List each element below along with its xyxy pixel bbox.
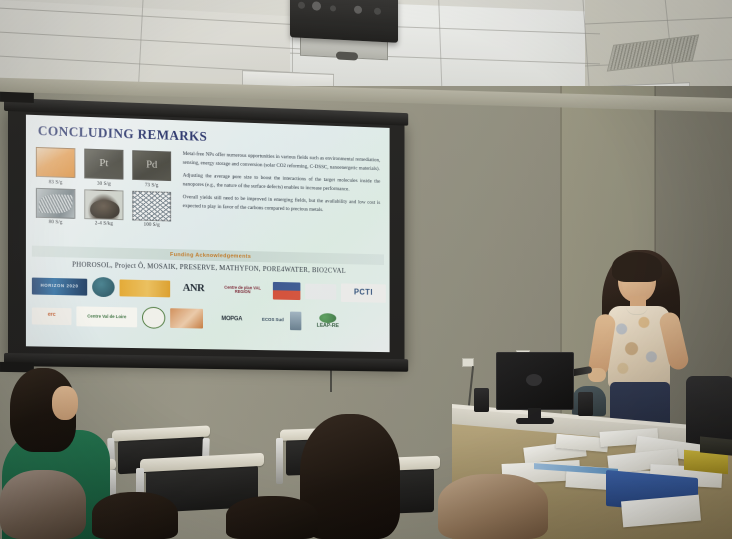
material-cell: 83 S/g [36,147,76,186]
presenter-hair-front [612,252,662,282]
ring-seal-logo-icon [142,307,165,329]
material-label: 2-4 S/kg [84,220,123,227]
leap-re-logo-icon: LEAP-RE [306,310,349,332]
ecos-sud-logo-icon: ECOS Sud [261,311,286,329]
monitor-brand-logo-icon [526,374,542,386]
material-label: 80 S/g [36,219,76,226]
audience-member-4 [438,474,548,539]
mopga-logo-icon: MOPGA [208,311,256,328]
audience-member-1-neck [52,386,78,420]
projector-port [374,8,381,15]
pcti-asturias-logo-icon: PCTI [341,283,386,302]
monitor-stand-base [516,418,554,424]
speaker-right-icon [578,392,593,416]
centre-val-de-loire-region-logo-icon: Centre de plan VAL REGION [217,281,269,300]
slide-body-text: Metal-free NPs offer numerous opportunit… [183,150,381,221]
material-cell: 80 S/g [36,187,76,225]
blue-circle-logo-icon [92,277,115,297]
palladium-tile-icon [132,150,171,181]
leap-re-label: LEAP-RE [317,323,339,329]
material-label: 30 S/g [84,180,123,187]
leap-re-glyph-icon [319,313,336,323]
ceiling-projector-icon [290,0,398,43]
material-label: 73 S/g [132,181,171,188]
line-mark-logo-icon [305,284,336,300]
slide-paragraph-2: Adjusting the average pore size to boost… [183,172,381,195]
logo-row-2: erc Centre Val de Loire MOPGA ECOS Sud L… [32,302,386,334]
presentation-slide: CONCLUDING REMARKS 83 S/g 30 S/g 73 S/g [26,115,390,353]
horizon-2020-logo-icon: HORIZON 2020 [32,277,87,295]
funding-header-text: Funding Acknowledgements [170,252,251,260]
funder-logos: HORIZON 2020 ANR Centre de plan VAL REGI… [32,273,386,339]
erc-logo-icon: erc [32,307,72,325]
conference-room-scene: CONCLUDING REMARKS 83 S/g 30 S/g 73 S/g [0,0,732,539]
projector-port [330,5,336,11]
projector-port [298,2,305,9]
gold-banner-logo-icon [119,279,170,297]
desktop-monitor-icon [496,352,574,410]
logo-row-1: HORIZON 2020 ANR Centre de plan VAL REGI… [32,273,386,306]
screen-bracket [0,92,34,103]
material-cell: 73 S/g [132,150,171,188]
platinum-tile-icon [84,149,123,180]
anr-logo-icon: ANR [175,280,212,298]
fiber-bundle-icon [36,187,76,218]
slide-paragraph-3: Overall yields still need to be improved… [183,194,381,217]
carbon-powder-icon [84,189,123,220]
chair-frame [276,438,283,484]
slide-paragraph-1: Metal-free NPs offer numerous opportunit… [183,150,381,173]
materials-row: 83 S/g 30 S/g 73 S/g [36,147,173,189]
material-cell: 30 S/g [84,149,123,187]
photo-thumb-logo-icon [170,308,203,328]
projector-lens-icon [336,51,358,60]
flag-logo-icon [290,311,301,330]
material-cell: 100 S/g [132,190,171,228]
centre-val-de-loire-logo-icon: Centre Val de Loire [76,306,137,327]
chile-flag-logo-icon [273,282,300,300]
projector-port [312,1,321,10]
projection-screen: CONCLUDING REMARKS 83 S/g 30 S/g 73 S/g [8,104,404,364]
material-label: 83 S/g [36,178,76,185]
materials-row: 80 S/g 2-4 S/kg 100 S/g [36,187,173,228]
dark-box [700,436,732,455]
projector-port [354,6,362,14]
material-label: 100 S/g [132,221,171,228]
audience-member-5 [226,496,318,539]
slide-title: CONCLUDING REMARKS [38,123,207,145]
material-cell: 2-4 S/kg [84,189,123,227]
orange-aerogel-block-icon [36,147,76,178]
audience-member-6 [92,492,178,539]
graphene-mesh-icon [132,190,171,221]
audience-member-2 [0,470,86,539]
materials-grid: 83 S/g 30 S/g 73 S/g 80 S/g [36,147,173,231]
speaker-left-icon [474,388,489,412]
